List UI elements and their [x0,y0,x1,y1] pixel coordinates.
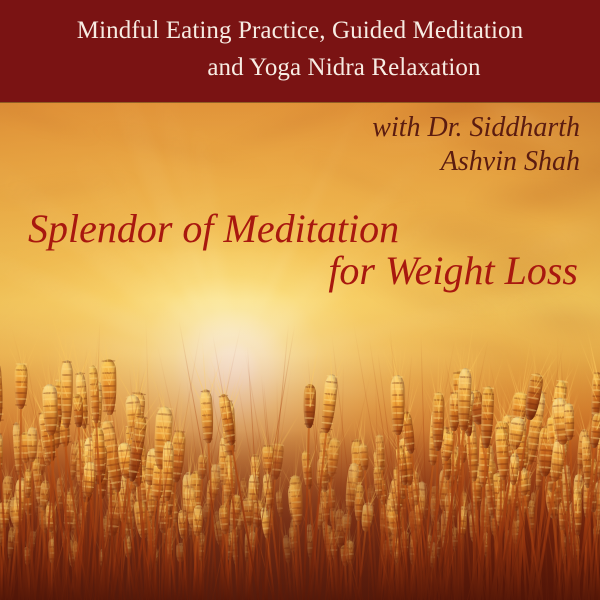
wheat-awn [28,461,30,481]
wheat-grain [15,397,27,399]
wheat-awn [363,407,366,445]
wheat-field [0,300,600,600]
wheat-grain [15,392,27,394]
wheat-grain [15,403,27,405]
album-cover: Mindful Eating Practice, Guided Meditati… [0,0,600,600]
